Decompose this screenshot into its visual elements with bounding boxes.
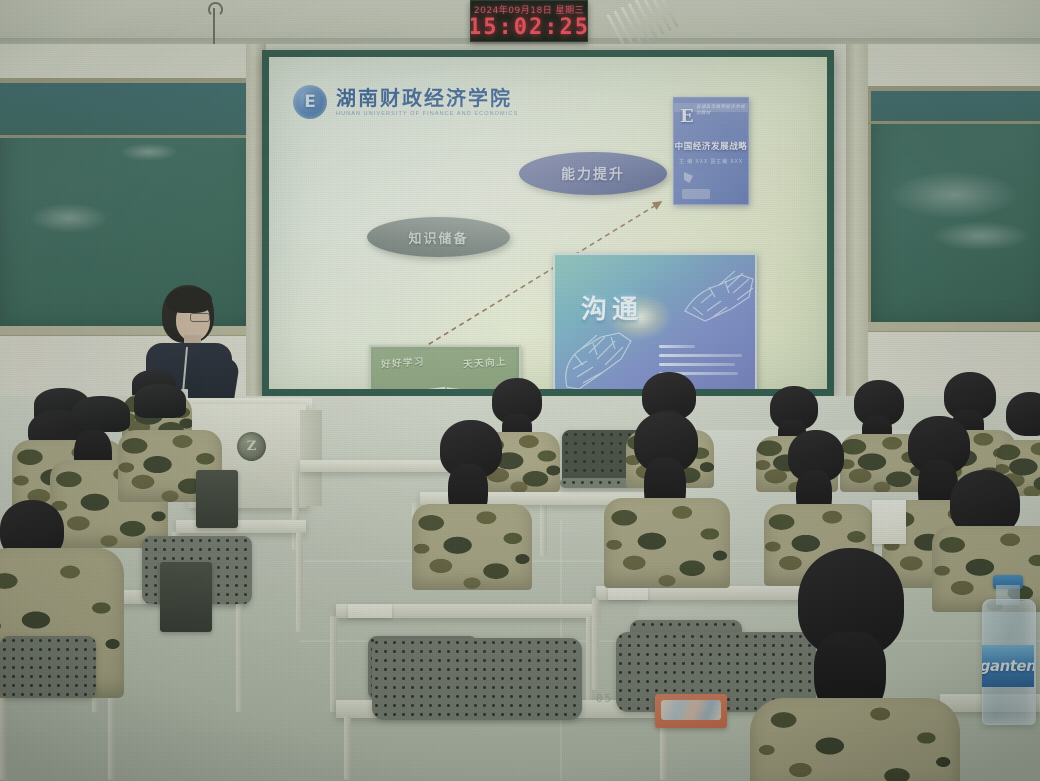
pencil-case [655,694,727,728]
student [610,412,722,570]
classroom-photo: E 湖南财政经济学院 HUNAN UNIVERSITY OF FINANCE A… [0,0,1040,781]
book-cursor-icon [684,172,693,183]
desk-number-label: 05 [596,692,613,705]
clock-date: 2024年09月18日 星期三 [474,3,584,16]
paper-sheet [608,588,648,600]
wall-pillar-right [846,44,868,400]
slide-book-cover: 普通高等教育经济学规划教材 E 中国经济发展战略 主 编 XXX 副主编 XXX [673,97,749,205]
student [418,420,524,570]
book-publisher-mark [682,189,710,199]
student [760,548,950,781]
student [1000,392,1040,482]
bottle-brand: ganten [982,657,1034,675]
projected-slide: E 湖南财政经济学院 HUNAN UNIVERSITY OF FINANCE A… [269,57,827,389]
lectern-side-panel [300,410,322,506]
desk-bag [196,470,238,528]
book-title: 中国经济发展战略 [674,140,748,152]
bottle-label: ganten [982,645,1034,687]
water-bottle-icon: ganten [978,575,1038,723]
chair-icon [372,638,582,720]
slide-ellipse-ability: 能力提升 [519,152,667,195]
chair-icon [0,636,96,698]
mic-hook [208,2,223,17]
projection-screen-icon: E 湖南财政经济学院 HUNAN UNIVERSITY OF FINANCE A… [262,50,834,396]
lectern-emblem-letter: Z [247,439,257,454]
slide-ellipse-knowledge: 知识储备 [367,217,510,257]
book-series-line: 普通高等教育经济学规划教材 [696,104,748,116]
desk-bag [160,562,212,632]
digital-clock-icon: 2024年09月18日 星期三 15:02:25 [470,0,588,42]
clock-time: 15:02:25 [470,15,588,40]
book-cover-letter: E [680,106,694,127]
blackboard-left-upper-panel [0,78,262,138]
wireframe-hand-upper-icon [679,263,757,329]
lectern-emblem: Z [237,432,266,461]
paper-sheet [348,604,392,618]
paper-sheet [872,500,906,544]
slide-photo-communication: 沟通 [553,253,757,389]
book-authors: 主 编 XXX 副主编 XXX [674,158,748,165]
pencil-case-pattern [661,700,721,720]
chalk-ledge-right [866,322,1040,331]
glasses-icon [190,313,210,322]
blackboard-right-upper-panel [866,86,1040,124]
study-photo-book-spine [445,387,447,389]
